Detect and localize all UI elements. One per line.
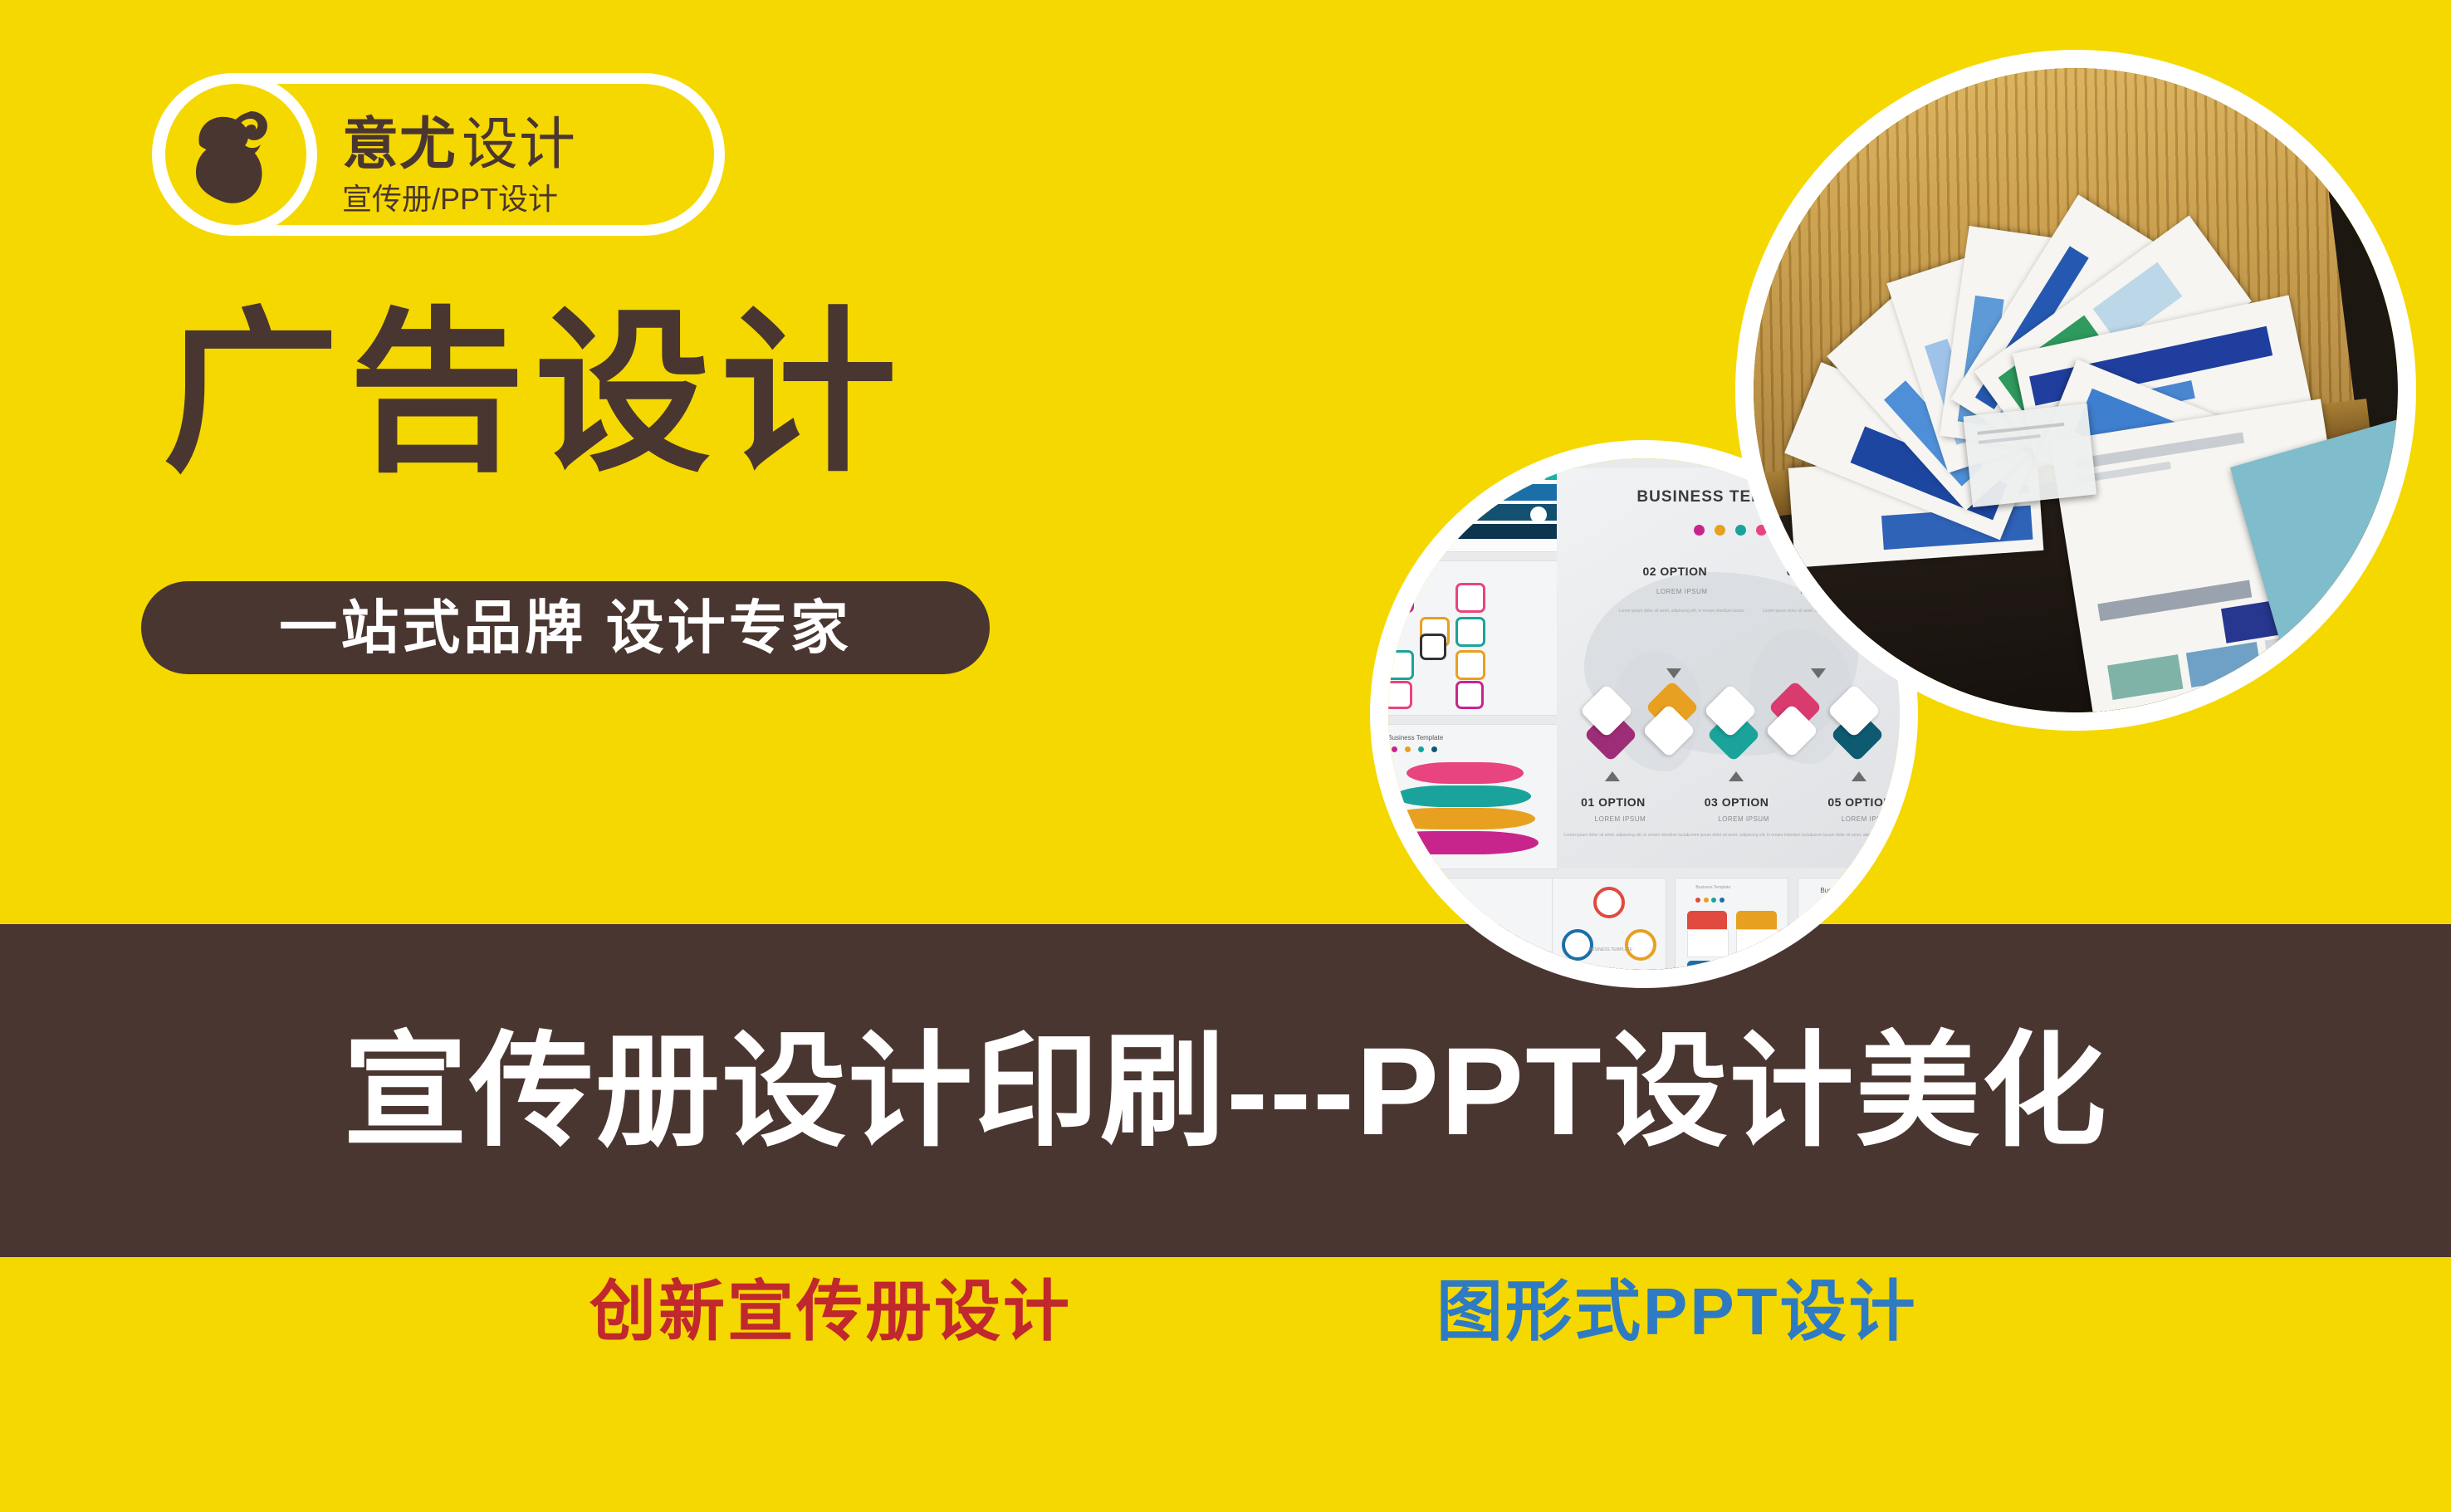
tagline-badge-label: 一站式品牌 设计专家: [279, 599, 851, 657]
poster-canvas: 意尤设计 宣传册/PPT设计 广告设计 一站式品牌 设计专家: [0, 0, 2451, 1512]
ppt-option-sub: LOREM IPSUM: [1718, 815, 1769, 823]
ppt-option-label: 03 OPTION: [1705, 795, 1769, 809]
ppt-option-label: 02 OPTION: [1642, 565, 1707, 578]
brand-name: 意尤设计: [342, 116, 707, 173]
ppt-option-body: Lorem ipsum dolor sit amet, adipiscing e…: [1564, 832, 1661, 839]
brand-tagline: 宣传册/PPT设计: [342, 184, 707, 214]
brand-name-bold: 意尤: [342, 116, 457, 173]
brand-text-block: 意尤设计 宣传册/PPT设计: [342, 91, 707, 240]
tagline-badge: 一站式品牌 设计专家: [141, 581, 990, 674]
brochure-photo: [1754, 68, 2398, 712]
service-strip-label: 宣传册设计印刷---PPT设计美化: [343, 1029, 2108, 1153]
ppt-pointer-icon: [1666, 668, 1681, 678]
brand-logo-lockup[interactable]: 意尤设计 宣传册/PPT设计: [152, 73, 725, 236]
ppt-option-sub: LOREM IPSUM: [1595, 815, 1646, 823]
ppt-option-sub: LOREM IPSUM: [1842, 815, 1893, 823]
brochure-photo-circle: [1735, 50, 2416, 731]
ppt-thumb: Business Template: [1388, 724, 1558, 869]
footer-tag-ppt: 图形式PPT设计: [1436, 1279, 1918, 1345]
ppt-option-label: 05 OPTION: [1827, 795, 1892, 809]
ppt-option-sub: LOREM IPSUM: [1656, 588, 1708, 595]
ppt-thumb: Business: [1798, 878, 1900, 970]
ppt-option-body: Lorem ipsum dolor sit amet, adipiscing e…: [1687, 832, 1783, 839]
card-holder: [1963, 404, 2096, 507]
ppt-pointer-icon: [1605, 771, 1620, 781]
ppt-thumb: [1388, 560, 1558, 716]
photo-circle-clip: [1754, 68, 2398, 712]
footer-tag-brochure: 创新宣传册设计: [590, 1279, 1072, 1345]
ppt-thumb: [1388, 458, 1563, 552]
brand-name-thin: 设计: [462, 116, 576, 173]
ppt-option-body: Lorem ipsum dolor sit amet, adipiscing e…: [1619, 608, 1722, 615]
ppt-thumb: BUSINESS TEMPLATE: [1552, 878, 1666, 970]
footer-tags: 创新宣传册设计 图形式PPT设计: [0, 1279, 2451, 1420]
ppt-pointer-icon: [1729, 771, 1744, 781]
ppt-thumb: BUSINESS TEMPLATE: [1388, 878, 1558, 970]
service-strip: 宣传册设计印刷---PPT设计美化: [0, 924, 2451, 1257]
page-title: 广告设计: [163, 306, 907, 482]
ppt-option-label: 01 OPTION: [1581, 795, 1646, 809]
seed-bird-logo-icon: [154, 73, 317, 236]
ppt-pointer-icon: [1852, 771, 1866, 781]
ppt-thumb: Business Template: [1675, 878, 1789, 970]
ppt-option-body: Lorem ipsum dolor sit amet, adipiscing e…: [1811, 832, 1900, 839]
